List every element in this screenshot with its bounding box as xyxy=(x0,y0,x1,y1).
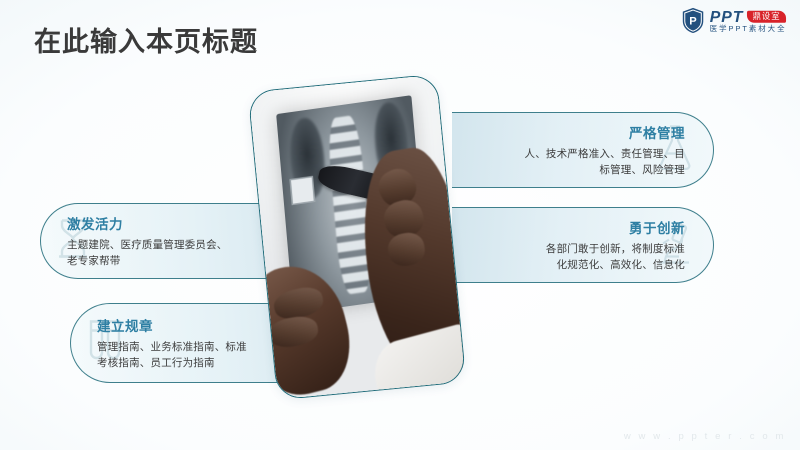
logo-subtitle: 医学PPT素材大全 xyxy=(709,25,786,32)
shield-icon: P xyxy=(680,7,704,34)
photo-image xyxy=(248,74,467,401)
logo-text-group: PPT 鼎设室 医学PPT素材大全 xyxy=(709,8,786,32)
pill-text-group: 严格管理 人、技术严格准入、责任管理、目 标管理、风险管理 xyxy=(525,122,686,179)
pill-text-group: 激发活力 主题建院、医疗质量管理委员会、 老专家帮带 xyxy=(67,213,228,270)
brand-logo: P PPT 鼎设室 医学PPT素材大全 xyxy=(680,7,786,34)
logo-badge: 鼎设室 xyxy=(747,10,786,22)
pill-desc-line-1: 各部门敢于创新，将制度标准 xyxy=(546,243,685,255)
svg-text:P: P xyxy=(689,16,697,28)
pill-desc-line-2: 标管理、风险管理 xyxy=(525,163,686,179)
pill-description: 主题建院、医疗质量管理委员会、 老专家帮带 xyxy=(67,238,228,270)
pill-title: 严格管理 xyxy=(525,122,686,142)
logo-brand-text: PPT xyxy=(709,8,743,24)
xray-marker-tag xyxy=(289,176,314,205)
pill-desc-line-2: 考核指南、员工行为指南 xyxy=(97,356,247,372)
pill-desc-line-1: 人、技术严格准入、责任管理、目 xyxy=(525,148,686,160)
pill-title: 激发活力 xyxy=(67,213,228,233)
pill-description: 人、技术严格准入、责任管理、目 标管理、风险管理 xyxy=(525,147,686,179)
slide-canvas: 在此输入本页标题 P PPT 鼎设室 医学PPT素材大全 xyxy=(0,0,800,450)
site-watermark: w w w . p p t e r . c o m xyxy=(624,431,786,442)
pill-text-group: 建立规章 管理指南、业务标准指南、标准 考核指南、员工行为指南 xyxy=(97,315,247,372)
page-title: 在此输入本页标题 xyxy=(34,20,258,59)
info-pill-strict[interactable]: 严格管理 人、技术严格准入、责任管理、目 标管理、风险管理 xyxy=(452,112,714,188)
pill-text-group: 勇于创新 各部门敢于创新，将制度标准 化规范化、高效化、信息化 xyxy=(546,217,685,274)
pill-desc-line-1: 管理指南、业务标准指南、标准 xyxy=(97,341,247,353)
pill-description: 管理指南、业务标准指南、标准 考核指南、员工行为指南 xyxy=(97,340,247,372)
central-photo xyxy=(248,74,467,401)
pill-title: 勇于创新 xyxy=(546,217,685,237)
pill-desc-line-2: 化规范化、高效化、信息化 xyxy=(546,258,685,274)
pill-description: 各部门敢于创新，将制度标准 化规范化、高效化、信息化 xyxy=(546,242,685,274)
pill-desc-line-1: 主题建院、医疗质量管理委员会、 xyxy=(67,239,228,251)
logo-primary-row: PPT 鼎设室 xyxy=(709,8,786,24)
pill-desc-line-2: 老专家帮带 xyxy=(67,254,228,270)
info-pill-innovation[interactable]: 勇于创新 各部门敢于创新，将制度标准 化规范化、高效化、信息化 xyxy=(452,207,714,283)
pill-title: 建立规章 xyxy=(97,315,247,335)
